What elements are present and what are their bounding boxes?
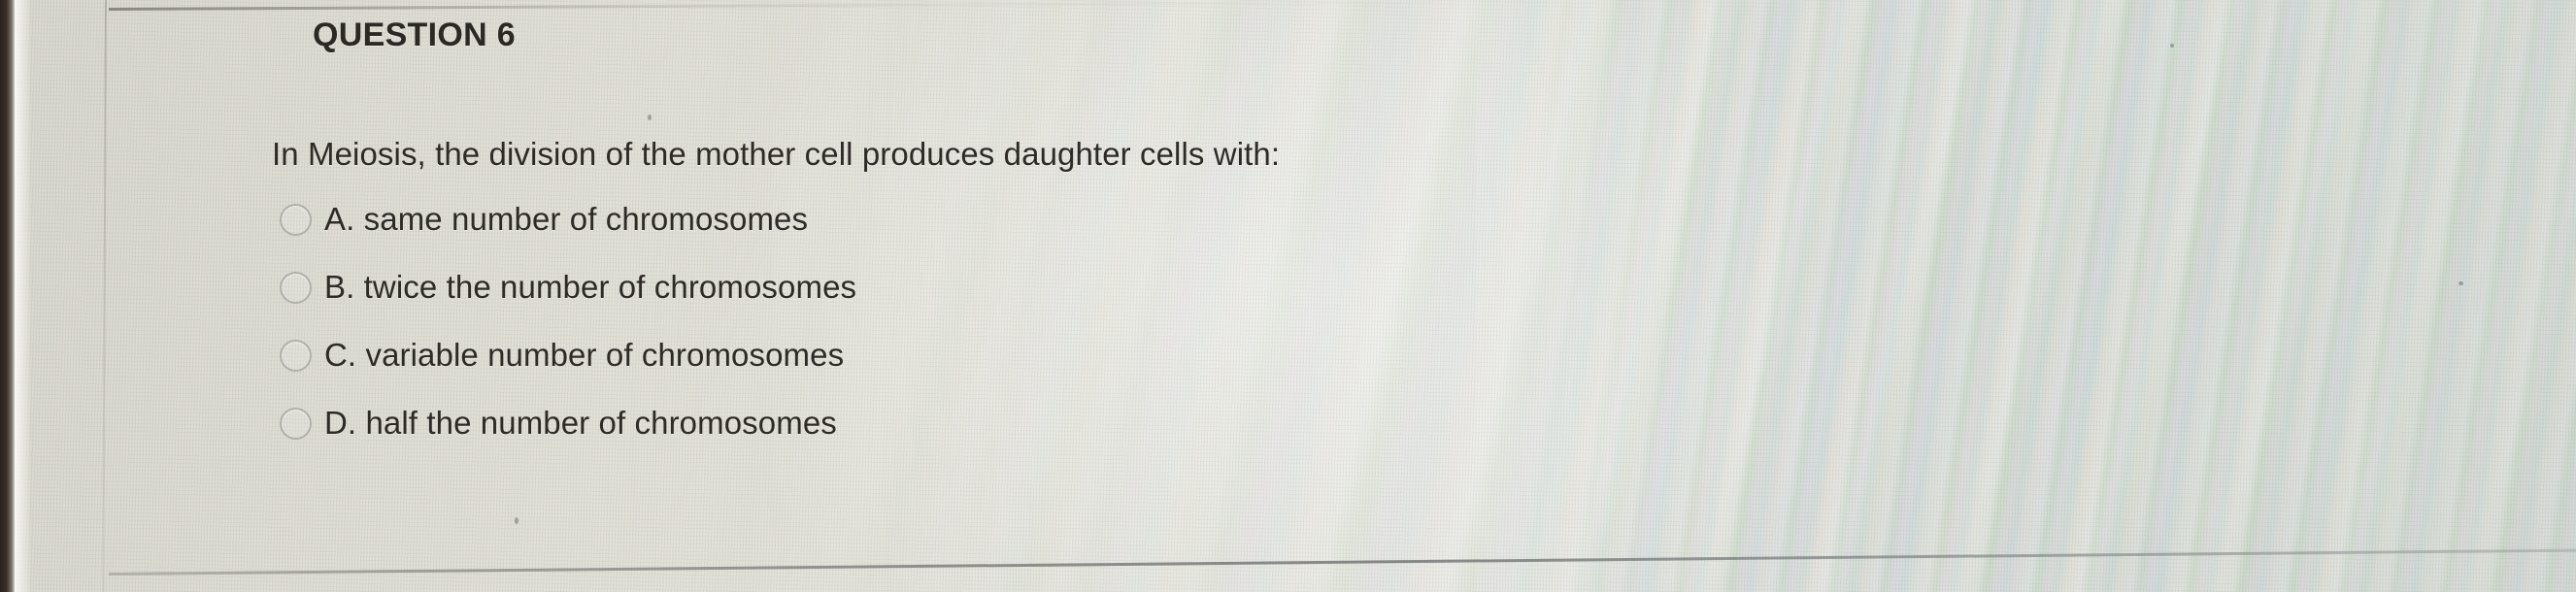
answer-option-label-a: A. same number of chromosomes [324,201,808,238]
question-content: QUESTION 6 In Meiosis, the division of t… [0,0,2576,592]
answer-option-d[interactable]: D. half the number of chromosomes [280,402,856,444]
answer-options-list: A. same number of chromosomes B. twice t… [280,198,856,470]
answer-option-label-c: C. variable number of chromosomes [324,337,844,374]
page-title: QUESTION 6 [313,16,516,54]
answer-option-a[interactable]: A. same number of chromosomes [280,198,856,241]
question-stem-text: In Meiosis, the division of the mother c… [272,136,1280,173]
photo-left-highlight [15,0,30,592]
radio-button-icon-c[interactable] [280,340,312,372]
photo-left-bezel-edge [0,0,15,592]
quiz-question-screenshot: QUESTION 6 In Meiosis, the division of t… [0,0,2576,592]
answer-option-c[interactable]: C. variable number of chromosomes [280,334,856,377]
radio-button-icon-b[interactable] [280,272,312,304]
answer-option-label-d: D. half the number of chromosomes [324,405,837,442]
answer-option-label-b: B. twice the number of chromosomes [324,269,856,306]
answer-option-b[interactable]: B. twice the number of chromosomes [280,266,856,309]
radio-button-icon-a[interactable] [280,204,312,236]
radio-button-icon-d[interactable] [280,408,312,440]
